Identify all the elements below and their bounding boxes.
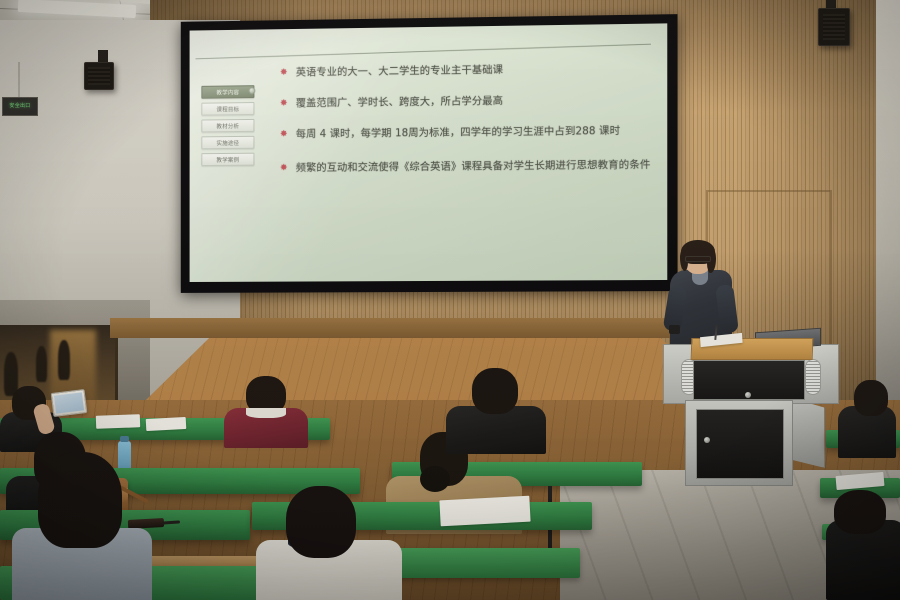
slide-bullet-list: ✸ 英语专业的大一、大二学生的专业主干基础课 ✸ 覆盖范围广、学时长、跨度大，所… bbox=[280, 58, 651, 191]
paper-sheet bbox=[439, 496, 530, 527]
paper-sheet bbox=[96, 414, 140, 429]
slide-nav-item-2[interactable]: 教材分析 bbox=[201, 119, 254, 132]
slide-bullet-text: 覆盖范围广、学时长、跨度大，所占学分最高 bbox=[296, 95, 503, 109]
slide-bullet-text: 英语专业的大一、大二学生的专业主干基础课 bbox=[296, 64, 503, 79]
student-white-navy-collar bbox=[264, 486, 394, 600]
presentation-clicker bbox=[669, 325, 680, 334]
bench-front-right bbox=[380, 548, 580, 578]
student-maroon-sweater bbox=[228, 378, 306, 444]
presenter bbox=[672, 243, 738, 348]
right-wall bbox=[876, 0, 900, 420]
glasses-icon bbox=[685, 256, 711, 262]
circle-dot-icon bbox=[248, 87, 255, 94]
podium-worktop bbox=[691, 338, 814, 360]
slide-nav-item-1[interactable]: 课程目标 bbox=[201, 102, 254, 116]
student-head bbox=[472, 368, 518, 414]
wall-speaker-left-icon bbox=[84, 62, 114, 90]
student-head bbox=[38, 452, 122, 548]
bullet-marker-icon: ✸ bbox=[280, 67, 288, 79]
slide-bullet-0: ✸ 英语专业的大一、大二学生的专业主干基础课 bbox=[280, 60, 651, 81]
student-head bbox=[286, 486, 356, 558]
student-right-writing bbox=[840, 380, 900, 450]
ceiling-light bbox=[18, 0, 137, 18]
lecture-hall-photo: 安全出口 教学内容 课程目标 教材分析 实施途径 教学案例 ✸ bbox=[0, 0, 900, 600]
slide-content: 教学内容 课程目标 教材分析 实施途径 教学案例 ✸ 英语专业的大一、大二学生的… bbox=[190, 23, 668, 282]
student-front-right bbox=[826, 490, 900, 600]
student-collar bbox=[246, 408, 286, 418]
student-head bbox=[834, 490, 886, 534]
slide-surface: 教学内容 课程目标 教材分析 实施途径 教学案例 ✸ 英语专业的大一、大二学生的… bbox=[190, 23, 668, 282]
tablet-device[interactable] bbox=[51, 389, 88, 417]
stage-front-edge bbox=[110, 318, 730, 338]
bullet-marker-icon: ✸ bbox=[280, 129, 288, 141]
slide-bullet-2: ✸ 每周 4 课时，每学期 18周为标准，四学年的学习生涯中占到288 课时 bbox=[280, 123, 651, 143]
podium-lock-icon[interactable] bbox=[745, 392, 751, 398]
podium-cabinet bbox=[685, 400, 793, 486]
podium-cabinet-door[interactable] bbox=[696, 409, 784, 479]
slide-divider-line bbox=[196, 44, 651, 60]
slide-nav-item-0[interactable]: 教学内容 bbox=[201, 85, 254, 99]
bullet-marker-icon: ✸ bbox=[280, 162, 288, 174]
slide-nav-item-3[interactable]: 实施途径 bbox=[201, 136, 254, 149]
slide-section-nav: 教学内容 课程目标 教材分析 实施途径 教学案例 bbox=[201, 85, 254, 170]
bullet-marker-icon: ✸ bbox=[280, 98, 288, 110]
projection-screen: 教学内容 课程目标 教材分析 实施途径 教学案例 ✸ 英语专业的大一、大二学生的… bbox=[181, 14, 678, 293]
slide-bullet-text: 频繁的互动和交流使得《综合英语》课程具备对学生长期进行思想教育的条件 bbox=[296, 159, 651, 174]
paper-sheet bbox=[146, 417, 187, 431]
slide-nav-item-4[interactable]: 教学案例 bbox=[201, 153, 254, 166]
student-hair-bun bbox=[420, 466, 450, 492]
student-dark-back-row bbox=[450, 370, 542, 448]
slide-bullet-1: ✸ 覆盖范围广、学时长、跨度大，所占学分最高 bbox=[280, 91, 651, 111]
student-front-dark-hair bbox=[22, 452, 142, 600]
tablet-screen bbox=[54, 392, 84, 413]
podium-side-panel bbox=[791, 398, 825, 468]
bottle-cap bbox=[120, 436, 129, 442]
exit-sign-label: 安全出口 bbox=[9, 104, 30, 109]
slide-bullet-text: 每周 4 课时，每学期 18周为标准，四学年的学习生涯中占到288 课时 bbox=[296, 125, 620, 140]
slide-bullet-3: ✸ 频繁的互动和交流使得《综合英语》课程具备对学生长期进行思想教育的条件 bbox=[280, 157, 651, 176]
student-head bbox=[854, 380, 888, 416]
exit-sign-hanger bbox=[18, 62, 20, 98]
lectern-podium bbox=[663, 338, 839, 488]
exit-sign: 安全出口 bbox=[2, 97, 38, 116]
speaker-grille-icon bbox=[805, 359, 821, 395]
wall-speaker-right-icon bbox=[818, 8, 850, 46]
cabinet-lock-icon[interactable] bbox=[704, 437, 710, 443]
